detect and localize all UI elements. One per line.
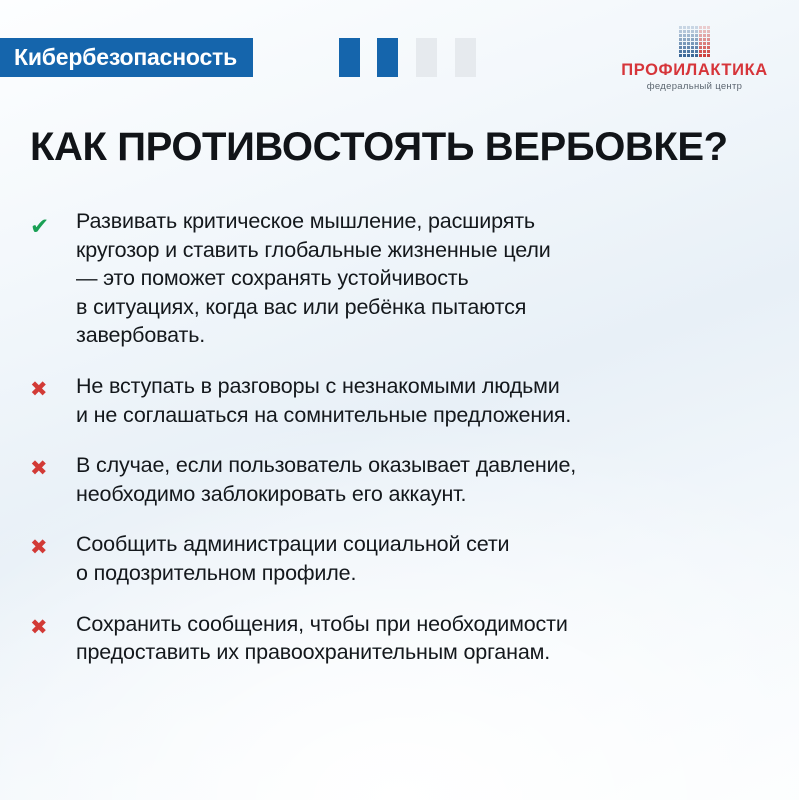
list-item-text: Не вступать в разговоры с незнакомыми лю… xyxy=(76,372,780,429)
category-tag: Кибербезопасность xyxy=(0,38,253,77)
deco-block-3 xyxy=(416,38,437,77)
deco-block-4 xyxy=(455,38,476,77)
list-item: ✖Не вступать в разговоры с незнакомыми л… xyxy=(30,372,780,429)
category-tag-label: Кибербезопасность xyxy=(14,46,237,69)
grid-building-icon xyxy=(679,26,710,57)
check-icon: ✔ xyxy=(30,207,76,241)
cross-icon: ✖ xyxy=(30,530,76,562)
deco-block-2 xyxy=(377,38,398,77)
deco-block-1 xyxy=(339,38,360,77)
infographic-poster: Кибербезопасность ПРОФИЛАКТИКА федеральн… xyxy=(0,0,799,800)
list-item: ✖В случае, если пользователь оказывает д… xyxy=(30,451,780,508)
cross-icon: ✖ xyxy=(30,372,76,404)
advice-list: ✔Развивать критическое мышление, расширя… xyxy=(30,207,780,689)
logo-subtitle: федеральный центр xyxy=(612,82,777,92)
organization-logo: ПРОФИЛАКТИКА федеральный центр xyxy=(612,26,777,91)
list-item: ✖Сохранить сообщения, чтобы при необходи… xyxy=(30,610,780,667)
cross-icon: ✖ xyxy=(30,610,76,642)
list-item-text: Сохранить сообщения, чтобы при необходим… xyxy=(76,610,780,667)
page-title: КАК ПРОТИВОСТОЯТЬ ВЕРБОВКЕ? xyxy=(30,126,775,169)
list-item-text: Сообщить администрации социальной сети о… xyxy=(76,530,780,587)
cross-icon: ✖ xyxy=(30,451,76,483)
logo-title: ПРОФИЛАКТИКА xyxy=(612,62,777,79)
list-item-text: Развивать критическое мышление, расширят… xyxy=(76,207,780,350)
list-item-text: В случае, если пользователь оказывает да… xyxy=(76,451,780,508)
poster-header: Кибербезопасность ПРОФИЛАКТИКА федеральн… xyxy=(0,0,799,118)
list-item: ✔Развивать критическое мышление, расширя… xyxy=(30,207,780,350)
list-item: ✖Сообщить администрации социальной сети … xyxy=(30,530,780,587)
